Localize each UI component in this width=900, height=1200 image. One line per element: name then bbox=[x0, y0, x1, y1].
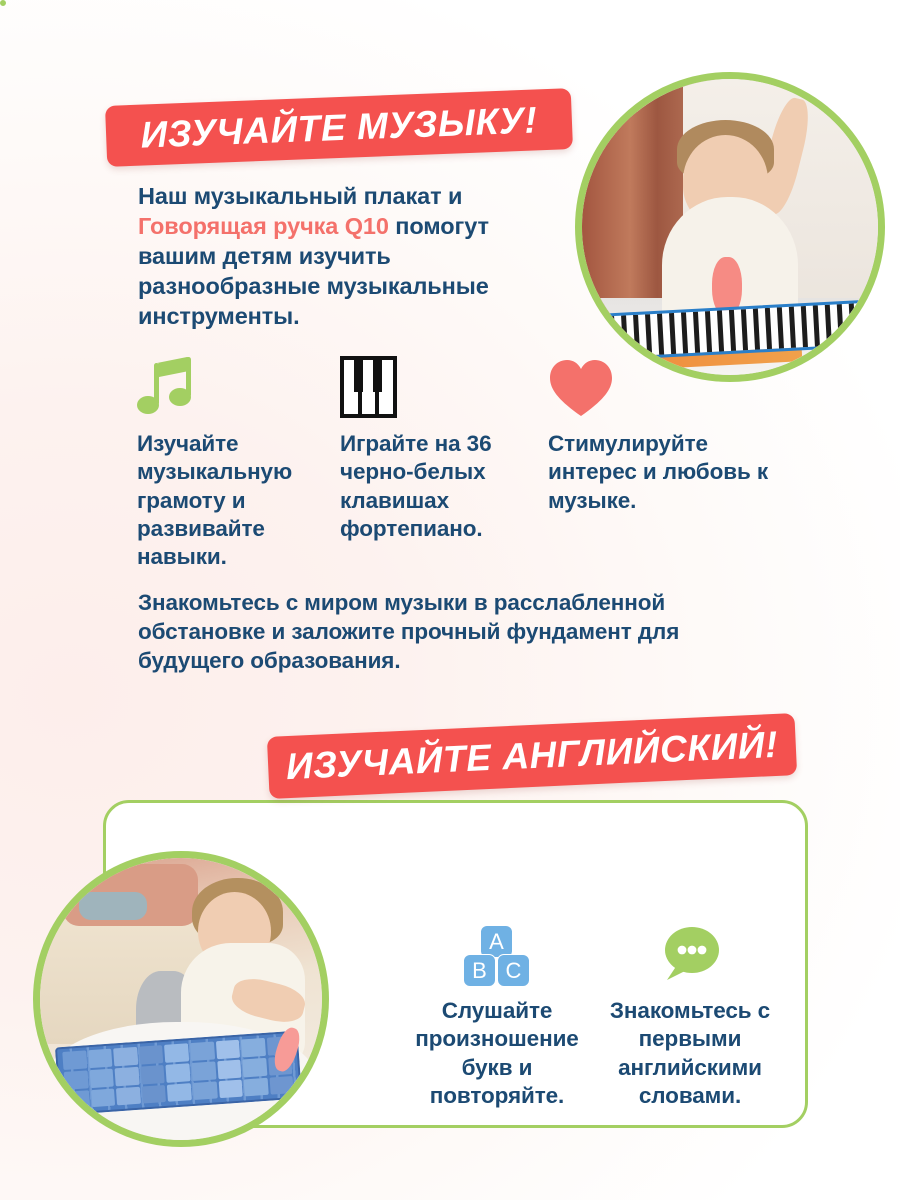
english-feature-label-2: Знакомьтесь с первыми английскими словам… bbox=[590, 997, 790, 1110]
music-feature-list: Изучайте музыкальную грамоту и развивайт… bbox=[137, 352, 797, 572]
english-section-photo bbox=[33, 851, 329, 1147]
abc-block-b: B bbox=[463, 954, 496, 987]
english-feature-item-1: A B C Слушайте произношение букв и повто… bbox=[404, 925, 590, 1110]
music-feature-item-1: Изучайте музыкальную грамоту и развивайт… bbox=[137, 352, 340, 572]
music-intro-line1: Наш музыкальный плакат и bbox=[138, 183, 462, 209]
music-feature-label-1: Изучайте музыкальную грамоту и развивайт… bbox=[137, 430, 340, 572]
speech-bubble-icon bbox=[590, 925, 790, 991]
music-intro-highlight: Говорящая ручка Q10 bbox=[138, 213, 389, 239]
promo-page: ИЗУЧАЙТЕ МУЗЫКУ! Наш музыкальный плакат … bbox=[0, 0, 900, 1200]
music-feature-label-2: Играйте на 36 черно-белых клавишах форте… bbox=[340, 430, 548, 543]
music-section-photo bbox=[575, 72, 885, 382]
music-note-icon bbox=[137, 352, 340, 418]
english-feature-list: A B C Слушайте произношение букв и повто… bbox=[400, 925, 790, 1110]
music-feature-item-3: Стимулируйте интерес и любовь к музыке. bbox=[548, 352, 788, 572]
english-section-banner: ИЗУЧАЙТЕ АНГЛИЙСКИЙ! bbox=[267, 713, 797, 799]
music-section-banner: ИЗУЧАЙТЕ МУЗЫКУ! bbox=[105, 88, 573, 167]
music-outro-text: Знакомьтесь с миром музыки в расслабленн… bbox=[138, 588, 778, 675]
abc-blocks-icon: A B C bbox=[404, 925, 590, 991]
music-card bbox=[0, 0, 6, 6]
music-feature-label-3: Стимулируйте интерес и любовь к музыке. bbox=[548, 430, 788, 515]
english-feature-item-2: Знакомьтесь с первыми английскими словам… bbox=[590, 925, 790, 1110]
piano-keys-icon bbox=[340, 352, 548, 418]
english-feature-label-1: Слушайте произношение букв и повторяйте. bbox=[404, 997, 590, 1110]
music-feature-item-2: Играйте на 36 черно-белых клавишах форте… bbox=[340, 352, 548, 572]
music-intro-text: Наш музыкальный плакат и Говорящая ручка… bbox=[138, 181, 543, 331]
abc-block-c: C bbox=[497, 954, 530, 987]
